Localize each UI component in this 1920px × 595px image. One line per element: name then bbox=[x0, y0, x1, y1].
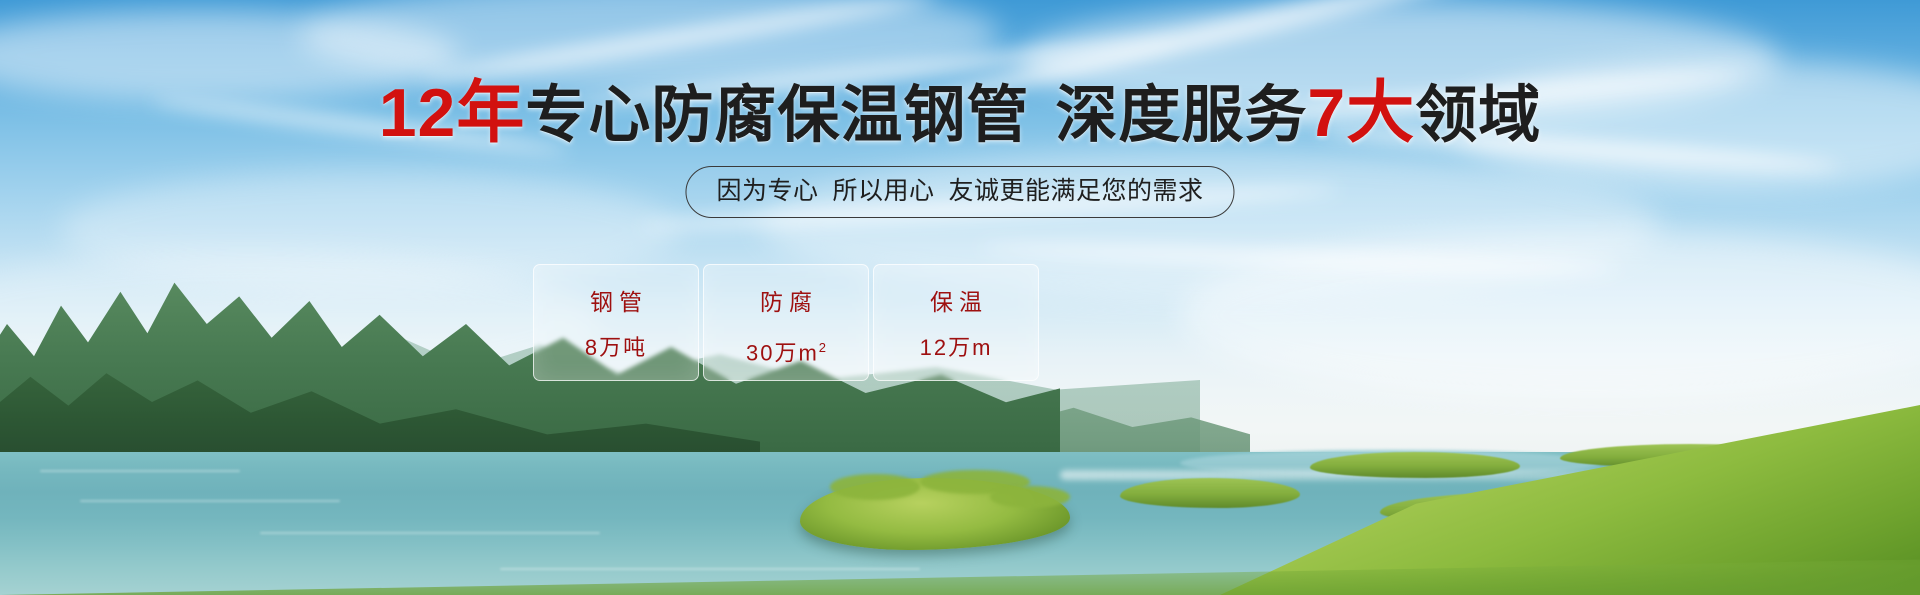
stat-value-text: 30万m bbox=[746, 340, 819, 365]
stat-value: 12万m bbox=[920, 336, 993, 360]
stat-value-text: 12万m bbox=[920, 335, 993, 360]
tagline-seg-3: 友诚更能满足您的需求 bbox=[949, 177, 1204, 205]
stat-label: 钢管 bbox=[584, 290, 648, 314]
stat-label: 防腐 bbox=[754, 290, 818, 314]
stat-card-group: 钢管 8万吨 防腐 30万m2 保温 12万m bbox=[533, 264, 1039, 381]
stat-label: 保温 bbox=[924, 290, 988, 314]
stat-card-insulation: 保温 12万m bbox=[873, 264, 1039, 381]
stat-value-exponent: 2 bbox=[819, 340, 826, 355]
banner-content: 12年专心防腐保温钢管深度服务7大领域 因为专心所以用心友诚更能满足您的需求 钢… bbox=[0, 0, 1920, 595]
hero-banner: 12年专心防腐保温钢管深度服务7大领域 因为专心所以用心友诚更能满足您的需求 钢… bbox=[0, 0, 1920, 595]
headline-fields: 领域 bbox=[1415, 81, 1541, 150]
page-title: 12年专心防腐保温钢管深度服务7大领域 bbox=[0, 82, 1920, 147]
headline-years: 12年 bbox=[379, 75, 526, 151]
stat-card-anticorrosion: 防腐 30万m2 bbox=[703, 264, 869, 381]
headline-service: 深度服务 bbox=[1055, 81, 1307, 150]
tagline-pill: 因为专心所以用心友诚更能满足您的需求 bbox=[685, 166, 1234, 218]
headline-main: 专心防腐保温钢管 bbox=[525, 81, 1029, 150]
stat-card-steel-pipe: 钢管 8万吨 bbox=[533, 264, 699, 381]
headline-seven: 7大 bbox=[1307, 75, 1415, 151]
tagline-seg-1: 因为专心 bbox=[716, 177, 818, 205]
tagline-seg-2: 所以用心 bbox=[832, 177, 934, 205]
stat-value: 8万吨 bbox=[585, 336, 647, 360]
stat-value-text: 8万吨 bbox=[585, 335, 647, 360]
stat-value: 30万m2 bbox=[746, 336, 826, 365]
